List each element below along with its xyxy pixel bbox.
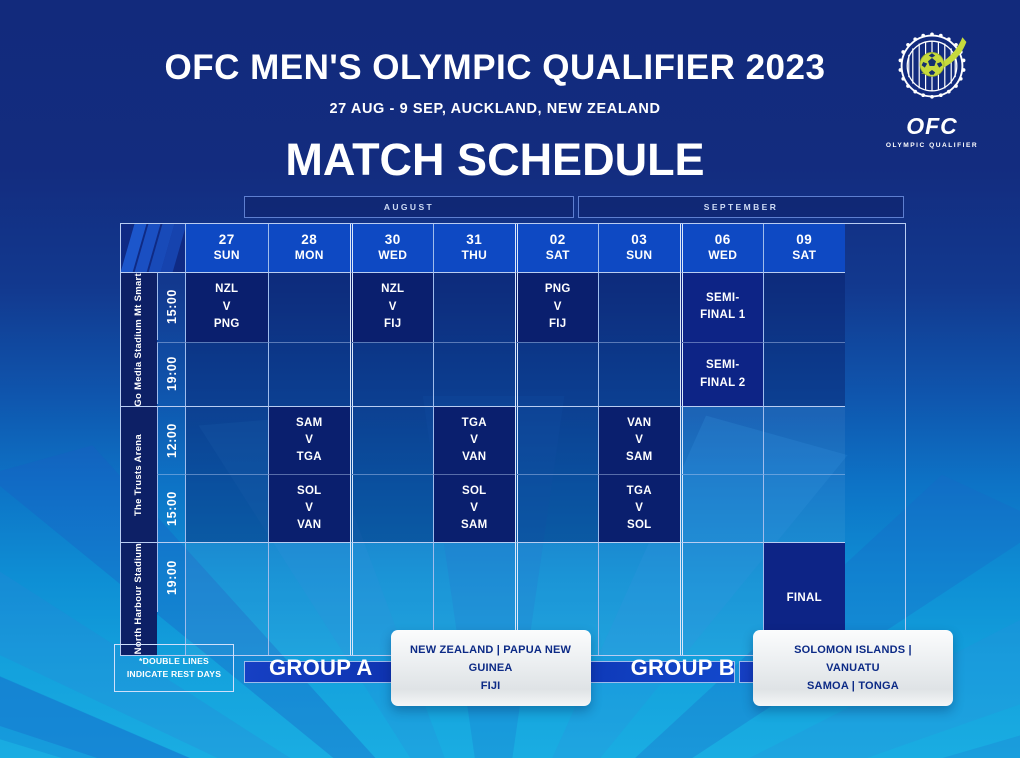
date-header-28[interactable]: 28MON [268,224,351,272]
group-a-teams: NEW ZEALAND | PAPUA NEW GUINEA FIJI [391,630,591,706]
date-weekday: SAT [764,248,846,263]
empty-cell [515,342,598,406]
month-header-september: SEPTEMBER [578,196,904,218]
team-code: NZL [381,281,404,298]
venue-label: Go Media Stadium Mt Smart [133,273,145,407]
schedule-heading: MATCH SCHEDULE [0,134,990,186]
time-label: 19:00 [165,356,179,391]
group-b-teams: SOLOMON ISLANDS | VANUATU SAMOA | TONGA [753,630,953,706]
ofc-emblem-icon [892,26,972,106]
date-weekday: SAT [518,248,598,263]
team-code: PNG [214,316,240,333]
time-label: 15:00 [165,491,179,526]
time-slot-1500: 15:00 [157,272,185,340]
date-day: 03 [599,231,681,248]
match-cell[interactable]: SOLVSAM [433,474,516,542]
date-day: 27 [186,231,268,248]
empty-cell [598,342,681,406]
rest-days-note: *DOUBLE LINES INDICATE REST DAYS [114,644,234,692]
empty-cell [680,474,763,542]
team-code: FIJ [384,316,402,333]
month-header-row: AUGUSTSEPTEMBER [244,196,906,218]
event-subtitle: 27 AUG - 9 SEP, AUCKLAND, NEW ZEALAND [0,101,990,117]
date-header-27[interactable]: 27SUN [185,224,268,272]
date-weekday: SUN [186,248,268,263]
empty-cell [598,272,681,342]
time-label: 15:00 [165,289,179,324]
versus-label: V [223,299,231,316]
match-cell[interactable]: NZLVFIJ [350,272,433,342]
match-cell[interactable]: SAMVTGA [268,406,351,474]
versus-label: V [470,500,478,517]
match-cell[interactable]: TGAVVAN [433,406,516,474]
team-code: NZL [215,281,238,298]
group-b-line-1: SOLOMON ISLANDS | VANUATU [769,641,937,677]
group-a-line-1: NEW ZEALAND | PAPUA NEW GUINEA [407,641,575,677]
ofc-logo: OFC OLYMPIC QUALIFIER [880,26,984,158]
date-header-09[interactable]: 09SAT [763,224,846,272]
date-weekday: SUN [599,248,681,263]
versus-label: V [305,500,313,517]
date-header-06[interactable]: 06WED [680,224,763,272]
date-weekday: THU [434,248,516,263]
schedule-grid: 27SUN28MON30WED31THU02SAT03SUN06WED09SAT… [120,223,906,656]
empty-cell [268,272,351,342]
venue-go-media-stadium-mt-smart: Go Media Stadium Mt Smart [121,272,157,407]
empty-cell [515,406,598,474]
date-day: 06 [683,231,763,248]
group-b-line-2: SAMOA | TONGA [769,677,937,695]
empty-cell [763,474,846,542]
team-code: SEMI- [706,357,739,374]
empty-cell [185,406,268,474]
empty-cell [433,272,516,342]
empty-cell [185,474,268,542]
match-schedule-table: AUGUSTSEPTEMBER 27SUN28MON30WED31THU02SA… [120,196,906,683]
rest-note-line-2: INDICATE REST DAYS [127,668,221,681]
team-code: FIJ [549,316,567,333]
empty-cell [763,342,846,406]
date-header-02[interactable]: 02SAT [515,224,598,272]
empty-cell [680,406,763,474]
date-day: 30 [353,231,433,248]
team-code: FINAL [787,590,822,607]
team-code: SAM [461,517,487,534]
team-code: PNG [545,281,571,298]
team-code: VAN [627,415,651,432]
time-slot-1900: 19:00 [157,342,185,404]
empty-cell [763,406,846,474]
ofc-wordmark: OFC [880,115,984,138]
team-code: TGA [462,415,487,432]
team-code: SAM [626,449,652,466]
page-header: OFC MEN'S OLYMPIC QUALIFIER 2023 27 AUG … [0,0,1020,190]
empty-cell [268,342,351,406]
date-weekday: WED [353,248,433,263]
date-day: 09 [764,231,846,248]
date-header-31[interactable]: 31THU [433,224,516,272]
venue-the-trusts-arena: The Trusts Arena [121,406,157,542]
venue-label: The Trusts Arena [133,434,145,516]
versus-label: V [470,432,478,449]
versus-label: V [635,500,643,517]
time-slot-1500: 15:00 [157,474,185,542]
page-footer: *DOUBLE LINES INDICATE REST DAYS GROUP A… [0,628,1020,708]
time-label: 12:00 [165,423,179,458]
match-cell[interactable]: SEMI-FINAL 2 [680,342,763,406]
match-cell[interactable]: SEMI-FINAL 1 [680,272,763,342]
match-cell[interactable]: PNGVFIJ [515,272,598,342]
date-day: 02 [518,231,598,248]
versus-label: V [305,432,313,449]
time-slot-1900: 19:00 [157,542,185,612]
header-decoration [121,224,185,272]
team-code: VAN [297,517,321,534]
group-a-label: GROUP A [269,655,373,681]
empty-cell [350,342,433,406]
empty-cell [763,272,846,342]
versus-label: V [389,299,397,316]
team-code: TGA [627,483,652,500]
team-code: FINAL 1 [700,307,745,324]
empty-cell [433,342,516,406]
versus-label: V [554,299,562,316]
date-weekday: WED [683,248,763,263]
match-cell[interactable]: VANVSAM [598,406,681,474]
date-day: 31 [434,231,516,248]
empty-cell [515,474,598,542]
team-code: SEMI- [706,290,739,307]
date-day: 28 [269,231,351,248]
empty-cell [350,474,433,542]
date-header-03[interactable]: 03SUN [598,224,681,272]
team-code: SAM [296,415,322,432]
versus-label: V [635,432,643,449]
empty-cell [350,406,433,474]
group-a-line-2: FIJI [407,677,575,695]
title-block: OFC MEN'S OLYMPIC QUALIFIER 2023 27 AUG … [0,48,990,186]
team-code: SOL [462,483,487,500]
time-label: 19:00 [165,560,179,595]
date-weekday: MON [269,248,351,263]
empty-cell [185,342,268,406]
match-cell[interactable]: NZLVPNG [185,272,268,342]
team-code: FINAL 2 [700,375,745,392]
month-header-august: AUGUST [244,196,574,218]
rest-note-line-1: *DOUBLE LINES [139,655,209,668]
match-cell[interactable]: SOLVVAN [268,474,351,542]
team-code: VAN [462,449,486,466]
time-slot-1200: 12:00 [157,406,185,474]
ofc-tagline: OLYMPIC QUALIFIER [880,142,984,149]
team-code: SOL [627,517,652,534]
team-code: SOL [297,483,322,500]
group-b-label: GROUP B [631,655,735,681]
date-header-30[interactable]: 30WED [350,224,433,272]
page-title: OFC MEN'S OLYMPIC QUALIFIER 2023 [0,48,990,88]
team-code: TGA [297,449,322,466]
match-cell[interactable]: TGAVSOL [598,474,681,542]
